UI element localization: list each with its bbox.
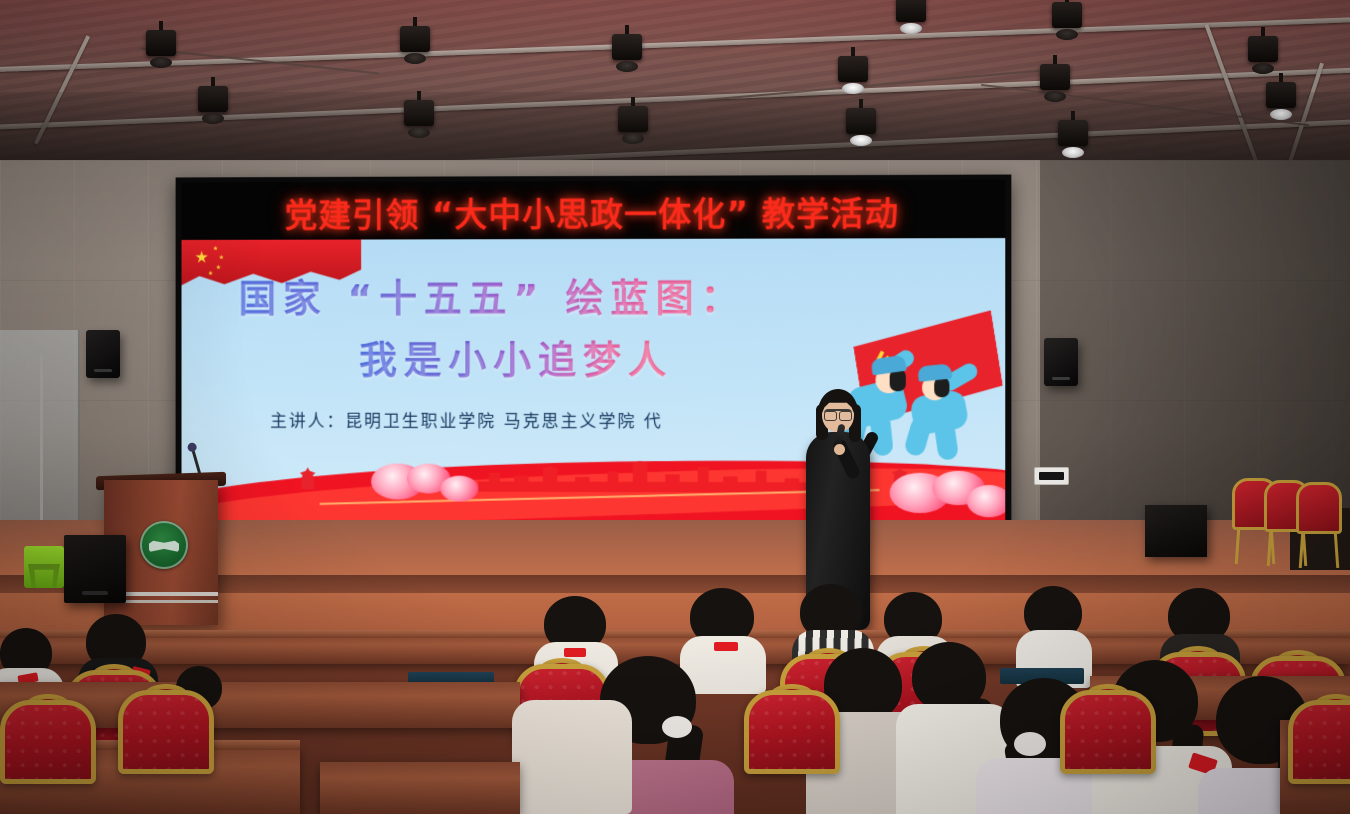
eyeglasses-icon [824, 409, 852, 419]
slide-presenter-credit: 主讲人：昆明卫生职业学院 马克思主义学院 代 [270, 407, 663, 432]
led-headline-text: 党建引领 “大中小思政一体化” 教学活动 [182, 187, 1006, 237]
stage-light-icon [146, 30, 176, 64]
ceiling-truss [0, 16, 1350, 72]
stage-light-icon [1266, 82, 1296, 116]
photo-scene: 党建引领 “大中小思政一体化” 教学活动 国家 “十五五” 绘蓝图： 我是小小追… [0, 0, 1350, 814]
wall-input-panel[interactable] [1034, 467, 1069, 485]
stage-light-icon [1040, 64, 1070, 98]
stage-light-icon [1248, 36, 1278, 70]
stage-light-icon [896, 0, 926, 30]
flower-icon [441, 476, 479, 502]
stage-light-icon [618, 106, 648, 140]
stage-light-icon [838, 56, 868, 90]
floor-speaker-right [1145, 505, 1207, 557]
stage-light-icon [400, 26, 430, 60]
stacked-chair[interactable] [1296, 482, 1342, 568]
audience-chair[interactable] [744, 690, 840, 794]
bench-top-back [0, 630, 1350, 638]
bench-row-front-mid [320, 762, 520, 814]
school-emblem-icon [140, 521, 188, 569]
floor-speaker-left [64, 535, 126, 603]
stage-light-icon [612, 34, 642, 68]
stage-light-icon [1052, 2, 1082, 36]
led-headline-band: 党建引领 “大中小思政一体化” 教学活动 [182, 180, 1006, 244]
stage-light-icon [846, 108, 876, 142]
audience-chair[interactable] [118, 690, 214, 794]
cartoon-figure-hair [934, 377, 949, 397]
green-stool[interactable] [24, 546, 64, 588]
slide-title-line2: 我是小小追梦人 [359, 329, 673, 384]
stage-light-icon [1058, 120, 1088, 154]
presenter-hand [834, 444, 845, 455]
wall-speaker-left [86, 330, 120, 378]
slide-title-line1: 国家 “十五五” 绘蓝图： [239, 267, 746, 322]
ceiling [0, 0, 1350, 175]
flower-icon [967, 485, 1006, 517]
audience-chair[interactable] [0, 700, 96, 804]
stage-light-icon [404, 100, 434, 134]
audience-chair[interactable] [1060, 690, 1156, 794]
wall-speaker-right [1044, 338, 1078, 386]
pagoda-icon [300, 467, 316, 489]
led-screen[interactable]: 党建引领 “大中小思政一体化” 教学活动 国家 “十五五” 绘蓝图： 我是小小追… [176, 175, 1012, 533]
audience-chair[interactable] [1288, 700, 1350, 804]
stage-light-icon [198, 86, 228, 120]
